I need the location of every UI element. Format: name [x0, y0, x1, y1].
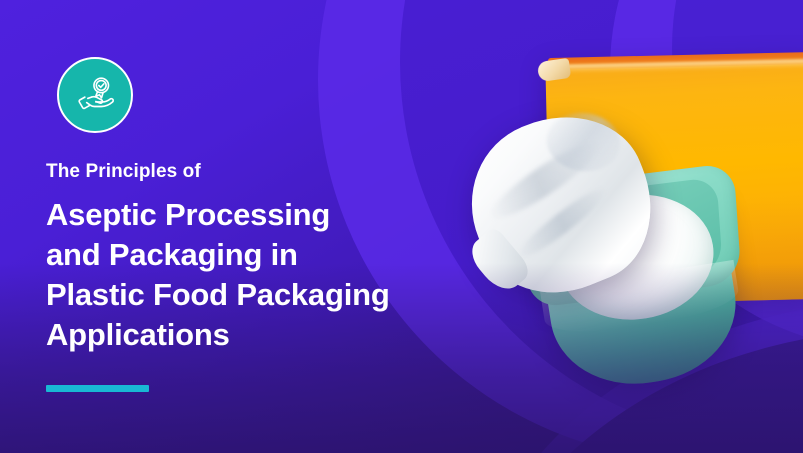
hand-holding-quality-badge-icon [72, 72, 118, 118]
eyebrow-text: The Principles of [46, 160, 476, 184]
headline-line-3: Plastic Food Packaging [46, 275, 476, 315]
headline-line-1: Aseptic Processing [46, 195, 476, 235]
headline-line-4: Applications [46, 315, 476, 355]
headline-block: The Principles of Aseptic Processing and… [46, 160, 476, 355]
headline-line-2: and Packaging in [46, 235, 476, 275]
accent-underline-bar [46, 385, 149, 392]
quality-badge-logo [57, 57, 133, 133]
hero-banner: The Principles of Aseptic Processing and… [0, 0, 803, 453]
page-title: Aseptic Processing and Packaging in Plas… [46, 195, 476, 355]
